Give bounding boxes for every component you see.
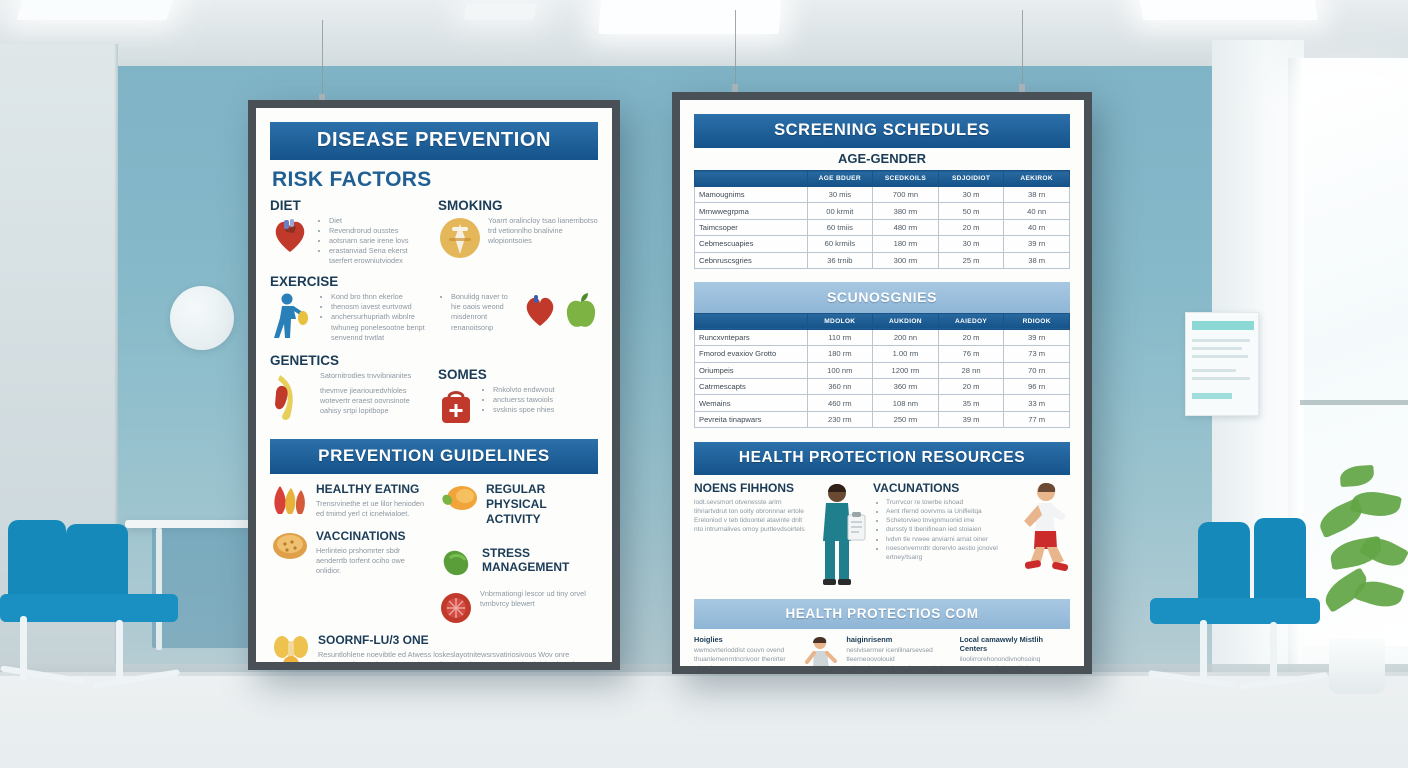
poster-disease-prevention[interactable]: DISEASE PREVENTION RISK FACTORS DIET xyxy=(248,100,620,670)
risk-bullets-heart-apple: Bonulidg naver to hie oaois weond misden… xyxy=(438,292,516,332)
resource-text-noens-fihhons: lodt.sevsmort otverwsste arlrn tihriartv… xyxy=(694,498,809,534)
walking-person-icon xyxy=(270,292,312,342)
wall-poster-small xyxy=(1185,312,1259,416)
health-protections-com-banner: HEALTH PROTECTIOS COM xyxy=(694,599,1070,629)
poster-line xyxy=(1192,339,1250,342)
screening-table-age-gender: AGE BDUER SCEDKOILS SDJOIDIOT AEKIROK Ma… xyxy=(694,170,1070,269)
window-mullion xyxy=(1300,400,1408,405)
footer-heading-hoiglies: Hoiglies xyxy=(694,635,794,644)
resource-heading-noens-fihhons: NOENS FIHHONS xyxy=(694,481,809,495)
age-gender-subheading: AGE-GENDER xyxy=(694,151,1070,166)
heart-apple-icon xyxy=(522,292,558,330)
poster-hanging-wire xyxy=(735,10,736,94)
heart-icon xyxy=(270,216,310,256)
squash-icon xyxy=(438,482,480,514)
risk-heading-diet: DIET xyxy=(270,198,430,213)
ribbon-icon xyxy=(438,216,482,260)
risk-bullets-diet: Diet Revendrorud ousstes aotsnarn sarie … xyxy=(316,216,430,266)
risk-bullets-exercise: Kond bro thnn ekerloe thenosm iavest eur… xyxy=(318,292,430,342)
pepper-icon xyxy=(438,546,476,576)
risk-text-smoking: Yoarrt oralincloy tsao lianerribotso trd… xyxy=(488,216,598,246)
poster-line xyxy=(1192,369,1236,372)
table-row: Pevreita tinapwars 230 rm 250 rm 39 m 77… xyxy=(695,411,1070,427)
fruits-icon xyxy=(270,482,310,516)
clinic-waiting-room-scene: DISEASE PREVENTION RISK FACTORS DIET xyxy=(0,0,1408,768)
guideline-text-screening: Resuntlohlene noevibtle ed Atwess loskes… xyxy=(318,650,598,662)
tomato-icon xyxy=(438,589,474,625)
desk-leg xyxy=(156,528,162,650)
floor xyxy=(0,672,1408,768)
table-row: Wemains 460 rm 108 nm 35 m 33 m xyxy=(695,395,1070,411)
risk-heading-smoking: SMOKING xyxy=(438,198,598,213)
poster-screening-schedules[interactable]: SCREENING SCHEDULES AGE-GENDER AGE BDUER… xyxy=(672,92,1092,674)
ceiling-light-icon xyxy=(464,4,537,20)
footer-text-hoiglies: wwmovrterioddist couvn ovend thuanlemenr… xyxy=(694,646,794,666)
risk-factors-title: RISK FACTORS xyxy=(272,168,598,192)
guideline-text-vaccinations: Herlinteio prshomrter sbdr aenderrtb tor… xyxy=(316,546,430,576)
table-row: Mrnwwegrpma 00 krmit 380 rm 50 m 40 nn xyxy=(695,203,1070,219)
poster-line xyxy=(1192,355,1248,358)
table-row: Runcxvntepars 110 rm 200 nn 20 m 39 rn xyxy=(695,329,1070,345)
table-row: Cebmescuapies 60 krmils 180 rm 30 m 39 r… xyxy=(695,236,1070,252)
walking-man-icon xyxy=(802,635,838,666)
table-row: Catrmescapts 360 nn 360 rm 20 m 96 rn xyxy=(695,379,1070,395)
guideline-heading-screening: SOORNF-LU/3 ONE xyxy=(318,633,598,647)
medical-bag-icon xyxy=(438,385,474,427)
table-header-row: MDOLOK AUKDION AAIEDOY RDIOOK xyxy=(695,313,1070,329)
table-header-row: AGE BDUER SCEDKOILS SDJOIDIOT AEKIROK xyxy=(695,171,1070,187)
poster-right-banner: SCREENING SCHEDULES xyxy=(694,114,1070,148)
risk-heading-genetics: GENETICS xyxy=(270,353,430,368)
table-row: Taimcsoper 60 tmiis 480 rm 20 m 40 rn xyxy=(695,219,1070,235)
guideline-heading-stress-management: STRESS MANAGEMENT xyxy=(482,546,598,574)
health-protection-resources-banner: HEALTH PROTECTION RESOURCES xyxy=(694,442,1070,475)
poster-line xyxy=(1192,377,1250,380)
poster-line xyxy=(1192,393,1232,399)
guideline-heading-vaccinations: VACCINATIONS xyxy=(316,529,430,543)
poster-left-banner: DISEASE PREVENTION xyxy=(270,122,598,160)
footer-text-local-centers: iloolirrorehonondivnohsoinq reovvrtnooe … xyxy=(960,655,1070,666)
prevention-guidelines-banner: PREVENTION GUIDELINES xyxy=(270,439,598,474)
ceiling-light-icon xyxy=(599,0,782,34)
poster-hanging-wire xyxy=(322,20,323,102)
risk-bullets-somes: Rnkolvto endwvout anctuerss tawoiols svs… xyxy=(480,385,555,415)
resource-heading-vacunations: VACUNATIONS xyxy=(873,481,1010,495)
risk-heading-exercise: EXERCISE xyxy=(270,274,598,289)
ceiling-light-icon xyxy=(16,0,177,20)
bread-icon xyxy=(270,529,310,561)
risk-heading-somes: SOMES xyxy=(438,367,598,382)
scunosgnies-banner: SCUNOSGNIES xyxy=(694,282,1070,313)
wall-clock-icon xyxy=(170,286,234,350)
poster-hanging-wire xyxy=(1022,10,1023,94)
guideline-heading-physical-activity: REGULAR PHYSICAL ACTIVITY xyxy=(486,482,598,527)
poster-strip xyxy=(1192,321,1254,330)
guideline-text-healthy-eating: Trensrvinethe et ue lilor henioden ed tm… xyxy=(316,499,430,519)
footer-heading-local-centers: Local camawwly Mistlih Centers xyxy=(960,635,1070,653)
guideline-text-tomato: Vnbrmationgi lescor ud tiny orvel tvmbvr… xyxy=(480,589,598,609)
ceiling-light-icon xyxy=(1137,0,1318,20)
screening-table-secondary: MDOLOK AUKDION AAIEDOY RDIOOK Runcxvntep… xyxy=(694,313,1070,428)
table-row: Oriumpeis 100 nm 1200 rm 28 nn 70 rn xyxy=(695,362,1070,378)
footer-heading-haiginrisenm: haiginrisenm xyxy=(846,635,951,644)
table-row: Cebnruscsgries 36 trnib 300 rm 25 m 38 m xyxy=(695,252,1070,268)
footer-text-haiginrisenm: neslviserrner icenlilnarsevsed tleerneoo… xyxy=(846,646,951,666)
resource-bullets-vacunations: Trurrvcor re towrbe ishoad Aent rfernd o… xyxy=(873,498,1010,562)
guideline-heading-healthy-eating: HEALTHY EATING xyxy=(316,482,430,496)
table-row: Mamougnims 30 mis 700 mn 30 m 38 rn xyxy=(695,187,1070,203)
risk-text-genetics: Satornitrodies tnvvibnianites thevmve ji… xyxy=(320,371,430,416)
apple-icon xyxy=(564,292,598,330)
doctor-clipboard-icon xyxy=(815,481,867,590)
runner-icon xyxy=(1016,481,1070,590)
table-row: Fmorod evaxiov Grotto 180 rm 1.00 rm 76 … xyxy=(695,346,1070,362)
dna-banana-icon xyxy=(270,371,314,423)
chicken-icon xyxy=(270,633,312,662)
poster-line xyxy=(1192,347,1242,350)
plant-pot xyxy=(1329,638,1385,694)
